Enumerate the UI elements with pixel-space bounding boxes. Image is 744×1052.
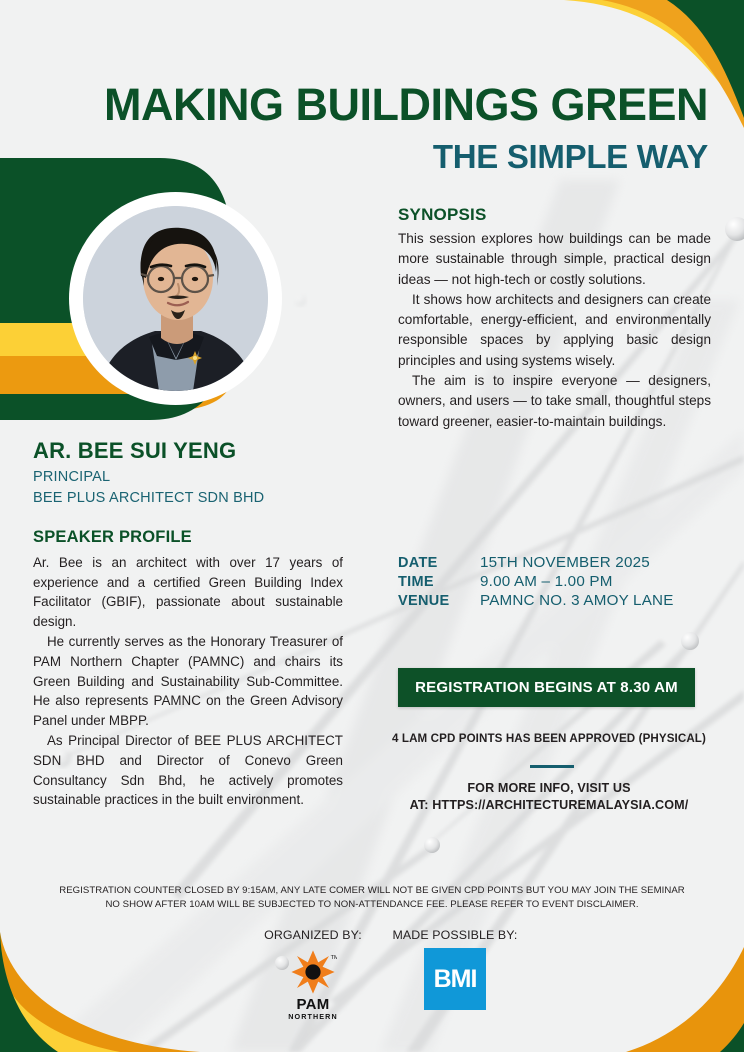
page-subtitle: THE SIMPLE WAY: [0, 136, 708, 178]
page-title: MAKING BUILDINGS GREEN: [0, 80, 708, 130]
footer-disclaimer-line1: REGISTRATION COUNTER CLOSED BY 9:15AM, A…: [30, 884, 714, 898]
visit-info-url[interactable]: AT: HTTPS://ARCHITECTUREMALAYSIA.COM/: [358, 797, 740, 814]
speaker-name: AR. BEE SUI YENG: [33, 438, 343, 464]
speaker-role: PRINCIPAL: [33, 469, 343, 485]
svg-text:TM: TM: [331, 955, 337, 961]
organizer-logo-block: ORGANIZED BY: TM PAM NORTHERN: [248, 928, 378, 1021]
speaker-avatar: [76, 199, 275, 398]
organized-by-caption: ORGANIZED BY:: [248, 928, 378, 942]
pam-wordmark: PAM: [248, 997, 378, 1012]
section-divider: [530, 765, 574, 768]
speaker-profile-paragraph: He currently serves as the Honorary Trea…: [33, 632, 343, 730]
cpd-points-note: 4 LAM CPD POINTS HAS BEEN APPROVED (PHYS…: [362, 732, 736, 745]
pam-chapter-label: NORTHERN: [248, 1012, 378, 1021]
poster-canvas: MAKING BUILDINGS GREEN THE SIMPLE WAY: [0, 0, 744, 1052]
footer-disclaimer: REGISTRATION COUNTER CLOSED BY 9:15AM, A…: [30, 884, 714, 912]
synopsis-heading: SYNOPSIS: [398, 205, 711, 225]
detail-value-venue: PAMNC NO. 3 AMOY LANE: [480, 592, 674, 609]
synopsis-column: SYNOPSIS This session explores how build…: [398, 205, 711, 432]
speaker-portrait-illustration: [83, 206, 268, 391]
synopsis-paragraph: This session explores how buildings can …: [398, 229, 711, 290]
registration-banner-label: REGISTRATION BEGINS AT 8.30 AM: [415, 679, 678, 696]
speaker-profile-heading: SPEAKER PROFILE: [33, 528, 343, 547]
footer-disclaimer-line2: NO SHOW AFTER 10AM WILL BE SUBJECTED TO …: [30, 898, 714, 912]
speaker-photo: [83, 206, 268, 391]
detail-row-venue: VENUE PAMNC NO. 3 AMOY LANE: [398, 592, 718, 609]
bmi-wordmark: BMI: [434, 965, 477, 994]
detail-label-time: TIME: [398, 574, 480, 590]
speaker-profile-paragraph: Ar. Bee is an architect with over 17 yea…: [33, 553, 343, 631]
bottom-left-corner-decoration: [0, 932, 200, 1052]
detail-label-date: DATE: [398, 555, 480, 571]
sponsor-logo-block: MADE POSSIBLE BY: BMI: [380, 928, 530, 1010]
speaker-info-column: AR. BEE SUI YENG PRINCIPAL BEE PLUS ARCH…: [33, 438, 343, 810]
registration-banner: REGISTRATION BEGINS AT 8.30 AM: [398, 668, 695, 707]
poster-title-block: MAKING BUILDINGS GREEN THE SIMPLE WAY: [0, 80, 708, 178]
speaker-company: BEE PLUS ARCHITECT SDN BHD: [33, 490, 343, 506]
synopsis-paragraph: The aim is to inspire everyone — designe…: [398, 371, 711, 432]
bmi-logo-icon: BMI: [424, 948, 486, 1010]
visit-info: FOR MORE INFO, VISIT US AT: HTTPS://ARCH…: [358, 780, 740, 814]
detail-label-venue: VENUE: [398, 593, 480, 609]
synopsis-paragraph: It shows how architects and designers ca…: [398, 290, 711, 371]
pam-star-icon: TM: [289, 948, 337, 996]
bottom-right-corner-decoration: [604, 937, 744, 1052]
detail-value-time: 9.00 AM – 1.00 PM: [480, 573, 613, 590]
detail-row-time: TIME 9.00 AM – 1.00 PM: [398, 573, 718, 590]
event-details: DATE 15TH NOVEMBER 2025 TIME 9.00 AM – 1…: [398, 554, 718, 611]
detail-row-date: DATE 15TH NOVEMBER 2025: [398, 554, 718, 571]
detail-value-date: 15TH NOVEMBER 2025: [480, 554, 650, 571]
visit-info-line1: FOR MORE INFO, VISIT US: [358, 780, 740, 797]
speaker-profile-paragraph: As Principal Director of BEE PLUS ARCHIT…: [33, 731, 343, 809]
made-possible-by-caption: MADE POSSIBLE BY:: [380, 928, 530, 942]
